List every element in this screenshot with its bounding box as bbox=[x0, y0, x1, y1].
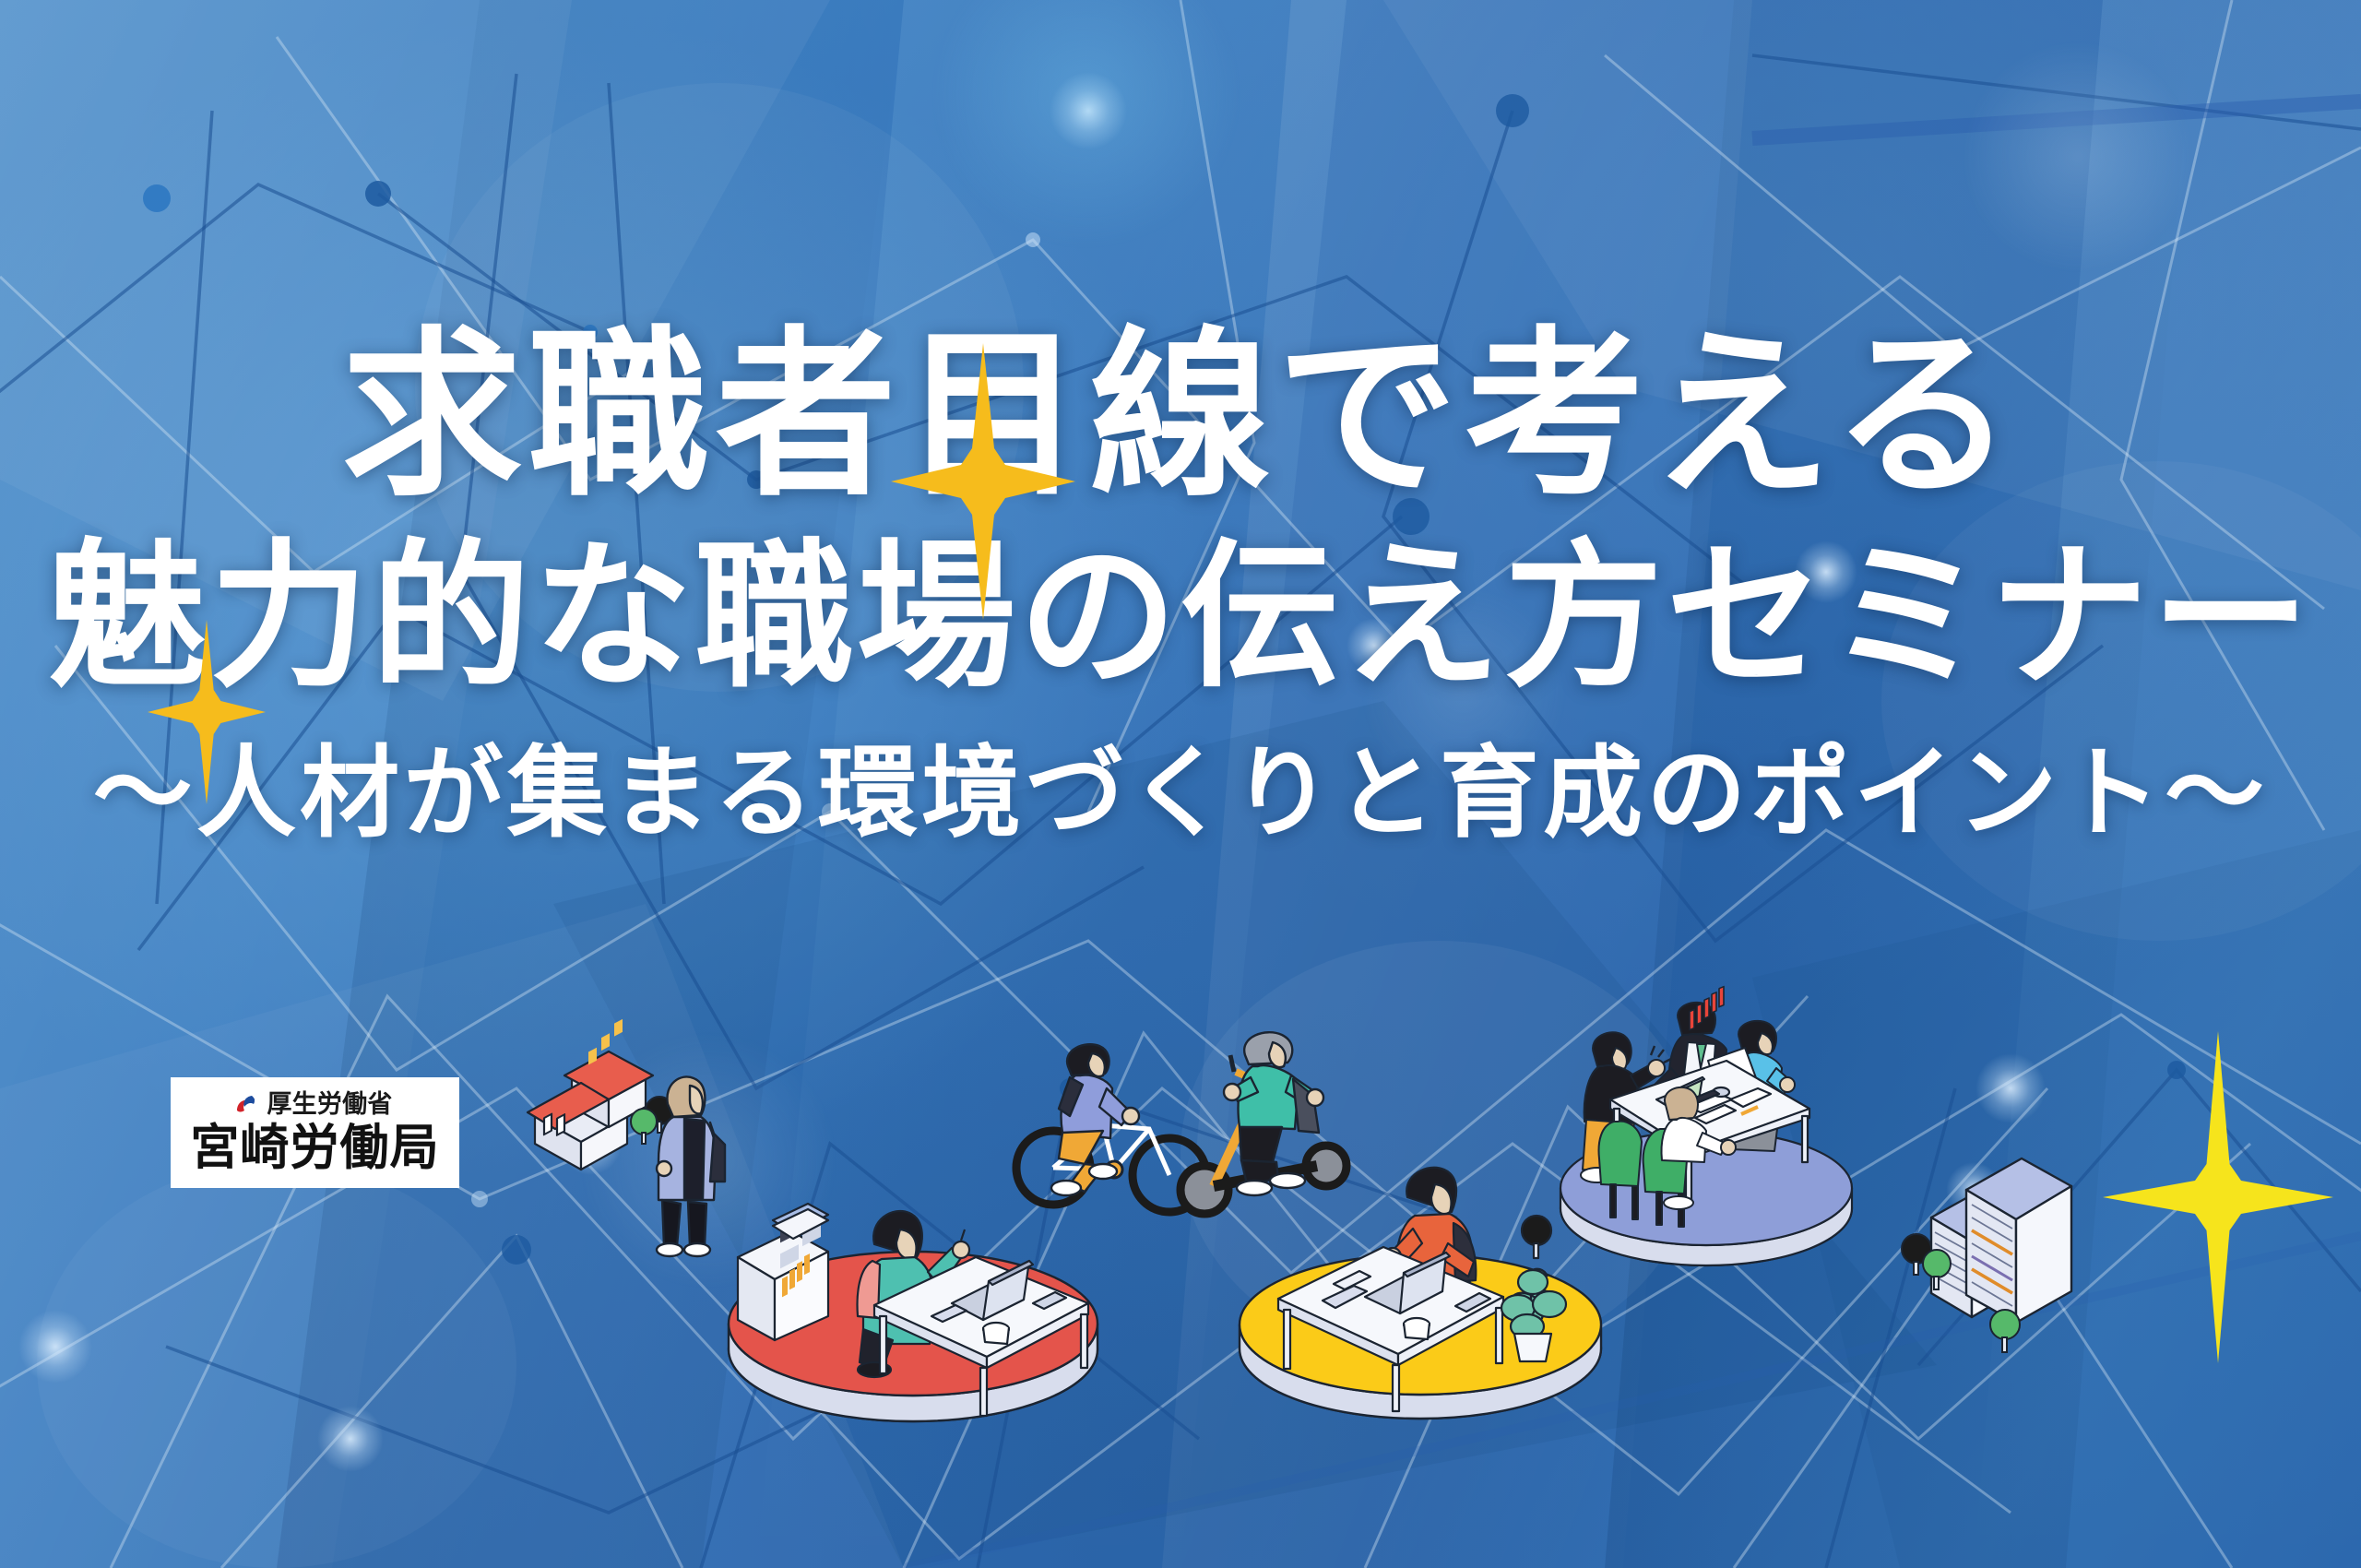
logo-ministry-label: 厚生労働省 bbox=[267, 1092, 392, 1117]
seminar-poster: 求職者目線で考える 魅力的な職場の伝え方セミナー ～人材が集まる環境づくりと育成… bbox=[0, 0, 2361, 1568]
illustration-meeting-platform bbox=[1549, 1004, 1863, 1280]
logo-ministry-row: 厚生労働省 bbox=[233, 1092, 392, 1118]
subtitle: ～人材が集まる環境づくりと育成のポイント～ bbox=[0, 743, 2361, 843]
illustration-office-building bbox=[1900, 1136, 2112, 1358]
logo-bureau-label: 宮崎労働局 bbox=[190, 1123, 439, 1172]
title-block: 求職者目線で考える 魅力的な職場の伝え方セミナー ～人材が集まる環境づくりと育成… bbox=[0, 325, 2361, 843]
bookshelf bbox=[738, 1204, 828, 1340]
mhlw-mark-icon bbox=[233, 1092, 259, 1118]
mhlw-miyazaki-labour-bureau-logo: 厚生労働省 宮崎労働局 bbox=[171, 1077, 459, 1188]
title-line-2: 魅力的な職場の伝え方セミナー bbox=[0, 537, 2361, 695]
rider bbox=[1051, 1044, 1139, 1195]
title-line-1: 求職者目線で考える bbox=[0, 325, 2361, 505]
